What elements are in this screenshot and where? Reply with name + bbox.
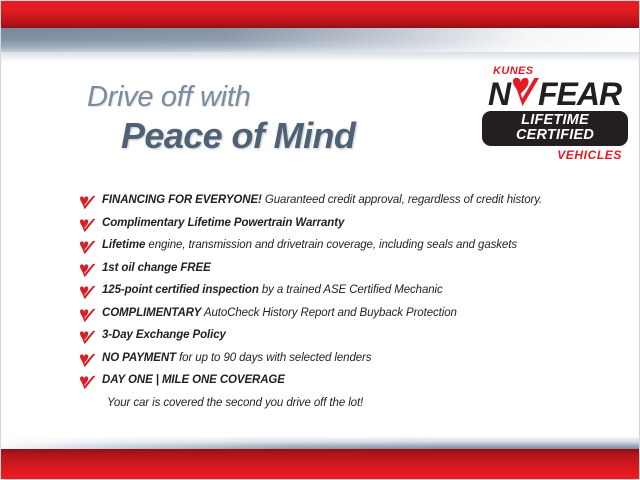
benefit-text: 3-Day Exchange Policy — [102, 328, 226, 343]
benefit-highlight: COMPLIMENTARY — [102, 307, 201, 319]
benefit-text: NO PAYMENT for up to 90 days with select… — [102, 351, 371, 366]
top-silver-band — [1, 28, 640, 52]
red-heart-check-icon — [79, 308, 96, 323]
benefits-list: FINANCING FOR EVERYONE! Guaranteed credi… — [79, 193, 619, 411]
wordmark-n: N — [488, 76, 512, 110]
benefit-line: 3-Day Exchange Policy — [79, 328, 619, 345]
red-heart-check-icon — [79, 195, 96, 210]
red-heart-check-icon — [79, 218, 96, 233]
benefit-highlight: DAY ONE | MILE ONE COVERAGE — [102, 374, 285, 386]
benefit-line: 125-point certified inspection by a trai… — [79, 283, 619, 300]
benefit-text: COMPLIMENTARY AutoCheck History Report a… — [102, 306, 457, 321]
benefit-highlight: NO PAYMENT — [102, 352, 176, 364]
benefit-detail: Guaranteed credit approval, regardless o… — [262, 194, 542, 206]
benefit-text: 1st oil change FREE — [102, 261, 211, 276]
benefit-line: COMPLIMENTARY AutoCheck History Report a… — [79, 306, 619, 323]
logo-lifetime-certified-band: LIFETIME CERTIFIED — [482, 111, 628, 146]
no-fear-wordmark-svg: N FEAR — [482, 76, 628, 110]
top-red-band — [1, 1, 640, 28]
benefit-item: DAY ONE | MILE ONE COVERAGEYour car is c… — [79, 373, 619, 411]
benefit-highlight: Complimentary Lifetime Powertrain Warran… — [102, 217, 344, 229]
wordmark-fear: FEAR — [538, 76, 622, 110]
benefit-subtext: Your car is covered the second you drive… — [107, 396, 619, 411]
benefit-line: NO PAYMENT for up to 90 days with select… — [79, 351, 619, 368]
benefit-text: Lifetime engine, transmission and drivet… — [102, 238, 517, 253]
benefit-item: 1st oil change FREE — [79, 261, 619, 278]
promo-banner: Drive off with Peace of Mind KUNES N FEA… — [0, 0, 640, 480]
logo-wordmark: N FEAR — [482, 76, 628, 110]
benefit-line: Complimentary Lifetime Powertrain Warran… — [79, 216, 619, 233]
red-heart-check-icon — [79, 375, 96, 390]
headline-line-2: Peace of Mind — [121, 115, 355, 157]
benefit-text: 125-point certified inspection by a trai… — [102, 283, 443, 298]
benefit-line: Lifetime engine, transmission and drivet… — [79, 238, 619, 255]
red-heart-check-icon — [79, 263, 96, 278]
benefit-highlight: 1st oil change FREE — [102, 262, 211, 274]
benefit-line: FINANCING FOR EVERYONE! Guaranteed credi… — [79, 193, 619, 210]
benefit-detail: for up to 90 days with selected lenders — [176, 352, 371, 364]
benefit-highlight: 3-Day Exchange Policy — [102, 329, 226, 341]
benefit-item: Lifetime engine, transmission and drivet… — [79, 238, 619, 255]
red-heart-check-icon — [79, 285, 96, 300]
benefit-item: NO PAYMENT for up to 90 days with select… — [79, 351, 619, 368]
benefit-text: DAY ONE | MILE ONE COVERAGE — [102, 373, 285, 388]
red-heart-check-icon — [79, 353, 96, 368]
red-heart-check-icon — [79, 240, 96, 255]
headline: Drive off with Peace of Mind — [87, 81, 355, 157]
top-silver-fade — [1, 52, 640, 62]
bottom-red-band — [1, 449, 640, 479]
benefit-item: COMPLIMENTARY AutoCheck History Report a… — [79, 306, 619, 323]
benefit-line: DAY ONE | MILE ONE COVERAGE — [79, 373, 619, 390]
benefit-detail: by a trained ASE Certified Mechanic — [259, 284, 443, 296]
kunes-no-fear-logo: KUNES N FEAR LIFETIME CERTIFIED VEHICLES — [482, 65, 628, 162]
headline-line-1: Drive off with — [87, 81, 355, 113]
benefit-line: 1st oil change FREE — [79, 261, 619, 278]
heart-check-icon — [513, 78, 539, 106]
bottom-silver-band — [1, 437, 640, 449]
benefit-text: Complimentary Lifetime Powertrain Warran… — [102, 216, 344, 231]
benefit-item: 125-point certified inspection by a trai… — [79, 283, 619, 300]
benefit-item: 3-Day Exchange Policy — [79, 328, 619, 345]
red-heart-check-icon — [79, 330, 96, 345]
benefit-item: Complimentary Lifetime Powertrain Warran… — [79, 216, 619, 233]
benefit-highlight: FINANCING FOR EVERYONE! — [102, 194, 262, 206]
benefit-detail: engine, transmission and drivetrain cove… — [145, 239, 517, 251]
benefit-detail: AutoCheck History Report and Buyback Pro… — [201, 307, 457, 319]
benefit-highlight: Lifetime — [102, 239, 145, 251]
benefit-highlight: 125-point certified inspection — [102, 284, 259, 296]
benefit-item: FINANCING FOR EVERYONE! Guaranteed credi… — [79, 193, 619, 210]
logo-vehicles-text: VEHICLES — [482, 148, 622, 162]
benefit-text: FINANCING FOR EVERYONE! Guaranteed credi… — [102, 193, 542, 208]
